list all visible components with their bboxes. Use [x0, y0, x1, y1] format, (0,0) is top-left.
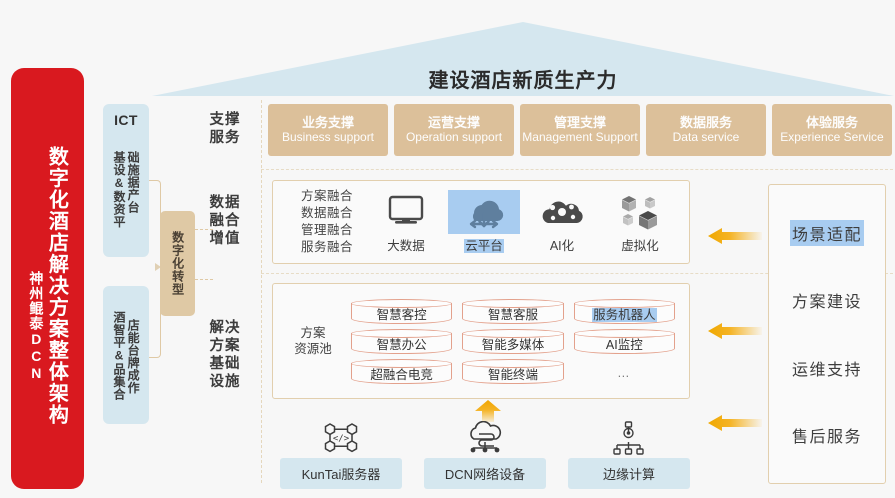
data-fusion-text-line: 方案融合 [301, 188, 353, 205]
roof-shape: 建设酒店新质生产力 [152, 22, 894, 98]
service-stage-item[interactable]: 售后服务 [790, 422, 864, 448]
right-arrow-icon-3 [708, 412, 762, 434]
resource-pool-item-label: 服务机器人 [592, 304, 657, 323]
data-fusion-box: 方案融合数据融合管理融合服务融合 大数据云平台AI化虚拟化 [272, 180, 690, 264]
infrastructure-label: KunTai服务器 [280, 458, 402, 489]
resource-pool-item-label: … [617, 366, 632, 380]
row-label-solution-line1: 解决 [210, 319, 241, 337]
resource-pool-label: 方案 资源池 [279, 325, 347, 358]
support-service-en: Operation support [406, 131, 502, 145]
dx-dash-bottom [195, 279, 213, 280]
service-stage-panel: 场景适配方案建设运维支持售后服务 [768, 184, 886, 484]
fusion-icon-caption: 云平台 [448, 235, 520, 254]
infrastructure-label: DCN网络设备 [424, 458, 546, 489]
monitor-icon [370, 190, 442, 234]
hotel-platform-box: 店能台牌成作 酒智平&品集合 [103, 286, 149, 424]
ict-col-left: 基设&数资平 [112, 151, 126, 228]
row-label-data-fusion: 数据 融合 增值 [199, 185, 251, 257]
row-label-fusion-line3: 增值 [210, 230, 241, 248]
resource-pool-item-label: 智慧客服 [488, 304, 538, 323]
architecture-diagram: 数字化酒店解决方案整体架构 神州鲲泰DCN 建设酒店新质生产力 ICT 础施据产… [0, 0, 895, 498]
resource-pool-item[interactable]: 智慧客服 [462, 299, 563, 324]
fusion-icon-caption: 大数据 [370, 235, 442, 254]
row-label-support-line2: 服务 [210, 129, 241, 147]
digital-transformation-box: 数字化转型 [160, 211, 195, 316]
support-service-en: Data service [673, 131, 740, 145]
cubes-icon [604, 190, 676, 234]
row-label-fusion-line2: 融合 [210, 212, 241, 230]
resource-pool-grid: 智慧客控智慧客服服务机器人智慧办公智能多媒体AI监控超融合电竞智能终端… [347, 291, 689, 392]
digital-transformation-label: 数字化转型 [170, 231, 184, 296]
support-service-cn: 运营支撑 [428, 116, 480, 131]
resource-pool-item-label: 超融合电竞 [370, 364, 433, 383]
right-arrow-icon-2 [708, 320, 762, 342]
data-fusion-icon-row: 大数据云平台AI化虚拟化 [367, 190, 679, 254]
resource-pool-item[interactable]: 服务机器人 [574, 299, 675, 324]
ict-platform-box: ICT 础施据产台 基设&数资平 [103, 104, 149, 257]
roof-title: 建设酒店新质生产力 [152, 64, 894, 93]
banner-main-title: 数字化酒店解决方案整体架构 [45, 146, 66, 426]
title-banner: 数字化酒店解决方案整体架构 神州鲲泰DCN [11, 68, 84, 489]
support-service-cn: 业务支撑 [302, 116, 354, 131]
ict-label: ICT [103, 112, 149, 128]
infrastructure-item[interactable]: 边缘计算 [568, 418, 690, 490]
data-fusion-text-line: 服务融合 [301, 239, 353, 256]
cloud-network-icon [424, 418, 546, 458]
row-label-solution-line3: 基础 [210, 355, 241, 373]
edge-tree-icon [568, 418, 690, 458]
banner-sub-title: 神州鲲泰DCN [29, 271, 44, 382]
row-label-solution-line2: 方案 [210, 337, 241, 355]
support-service-card[interactable]: 数据服务Data service [646, 104, 766, 156]
infrastructure-label: 边缘计算 [568, 458, 690, 489]
server-nodes-icon: </> [280, 418, 402, 458]
resource-pool-item[interactable]: 智能多媒体 [462, 329, 563, 354]
infrastructure-item[interactable]: </>KunTai服务器 [280, 418, 402, 490]
fusion-icon-item[interactable]: 大数据 [370, 190, 442, 254]
support-service-cn: 管理支撑 [554, 116, 606, 131]
fusion-icon-item[interactable]: 虚拟化 [604, 190, 676, 254]
support-service-card[interactable]: 业务支撑Business support [268, 104, 388, 156]
ict-col-right: 础施据产台 [126, 151, 140, 228]
resource-pool-item-label: 智能终端 [488, 364, 538, 383]
resource-pool-item-label: 智能多媒体 [482, 334, 545, 353]
fusion-icon-item[interactable]: 云平台 [448, 190, 520, 254]
resource-pool-item[interactable]: 智慧办公 [351, 329, 452, 354]
fusion-icon-caption: AI化 [526, 235, 598, 254]
support-services-row: 业务支撑Business support运营支撑Operation suppor… [268, 104, 892, 156]
service-stage-item[interactable]: 运维支持 [790, 355, 864, 381]
support-service-en: Management Support [522, 131, 637, 145]
resource-pool-item-label: AI监控 [606, 334, 643, 353]
right-arrow-icon-1 [708, 225, 762, 247]
svg-text:</>: </> [333, 434, 350, 444]
data-fusion-text-list: 方案融合数据融合管理融合服务融合 [301, 188, 353, 256]
resource-pool-item-label: 智慧客控 [377, 304, 427, 323]
support-service-cn: 体验服务 [806, 116, 858, 131]
data-fusion-text-line: 管理融合 [301, 222, 353, 239]
data-fusion-text-line: 数据融合 [301, 205, 353, 222]
row-label-solution: 解决 方案 基础 设施 [199, 300, 251, 410]
row-label-support: 支撑 服务 [199, 104, 251, 154]
support-service-card[interactable]: 管理支撑Management Support [520, 104, 640, 156]
service-stage-item[interactable]: 场景适配 [790, 220, 864, 246]
resource-pool-item[interactable]: 超融合电竞 [351, 359, 452, 384]
support-service-en: Business support [282, 131, 374, 145]
row-label-solution-line4: 设施 [210, 373, 241, 391]
resource-pool-label-line2: 资源池 [279, 341, 347, 357]
row-label-support-line1: 支撑 [210, 111, 241, 129]
fusion-icon-caption: 虚拟化 [604, 235, 676, 254]
vertical-divider [261, 100, 262, 483]
row-label-fusion-line1: 数据 [210, 194, 241, 212]
resource-pool-item[interactable]: 智慧客控 [351, 299, 452, 324]
horizontal-divider-1 [261, 169, 893, 170]
support-service-card[interactable]: 体验服务Experience Service [772, 104, 892, 156]
resource-pool-item[interactable]: AI监控 [574, 329, 675, 354]
infrastructure-item[interactable]: DCN网络设备 [424, 418, 546, 490]
resource-pool-item-label: 智慧办公 [377, 334, 427, 353]
infrastructure-row: </>KunTai服务器DCN网络设备边缘计算 [280, 418, 690, 490]
hotel-col-left: 酒智平&品集合 [112, 311, 126, 401]
support-service-en: Experience Service [780, 131, 883, 145]
resource-pool-box: 方案 资源池 智慧客控智慧客服服务机器人智慧办公智能多媒体AI监控超融合电竞智能… [272, 283, 690, 399]
support-service-cn: 数据服务 [680, 116, 732, 131]
fusion-icon-item[interactable]: AI化 [526, 190, 598, 254]
resource-pool-more[interactable]: … [574, 359, 675, 384]
ai-cloud-icon [526, 190, 598, 234]
resource-pool-item[interactable]: 智能终端 [462, 359, 563, 384]
hotel-col-right: 店能台牌成作 [126, 319, 140, 394]
resource-pool-label-line1: 方案 [279, 325, 347, 341]
service-stage-item[interactable]: 方案建设 [790, 287, 864, 313]
cloud-sync-icon [448, 190, 520, 234]
support-service-card[interactable]: 运营支撑Operation support [394, 104, 514, 156]
